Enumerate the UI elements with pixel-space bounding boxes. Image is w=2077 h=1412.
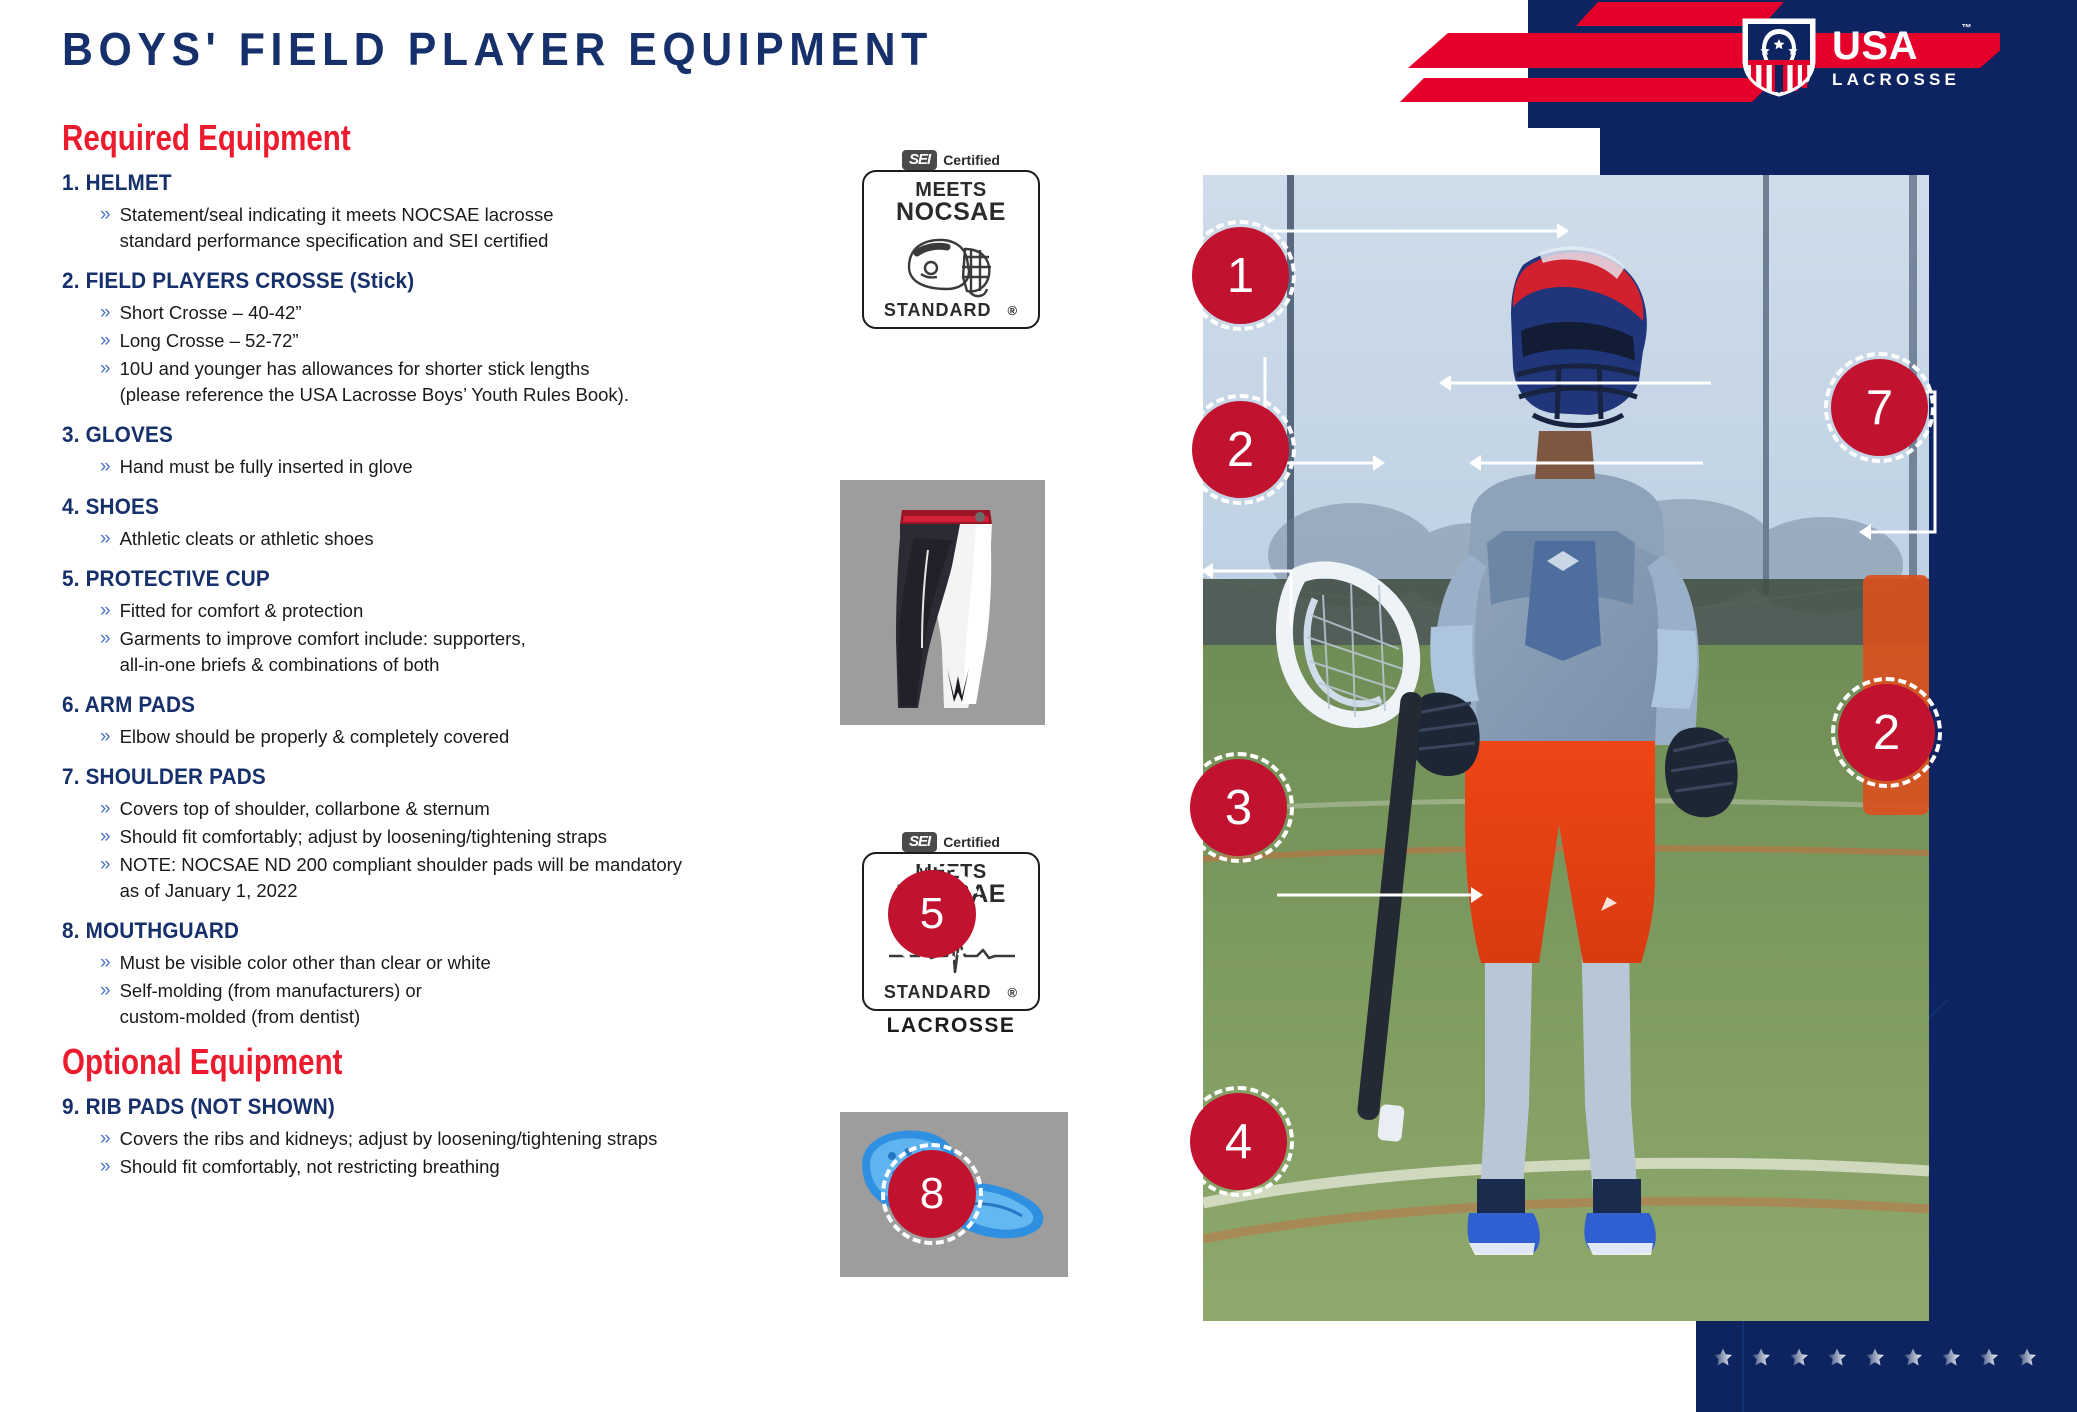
seal-standard-label: STANDARD <box>884 982 992 1003</box>
product-image-protective-cup <box>840 480 1045 725</box>
section-title: 5. PROTECTIVE CUP <box>62 566 798 592</box>
chevron-bullet-icon: » <box>62 598 111 624</box>
chevron-bullet-icon: » <box>62 626 111 652</box>
seal-standard-row: STANDARD ® <box>870 982 1032 1003</box>
callout-badge-8[interactable]: 8 <box>892 1154 972 1234</box>
bullet-text: Hand must be fully inserted in glove <box>120 454 413 480</box>
trademark-icon: ™ <box>1962 24 1973 34</box>
registered-mark-icon: ® <box>1008 303 1019 318</box>
bullet-list: »Short Crosse – 40-42” »Long Crosse – 52… <box>62 300 862 408</box>
chevron-bullet-icon: » <box>62 300 111 326</box>
callout-badge-2-arm[interactable]: 2 <box>1842 688 1931 777</box>
bullet-list: »Must be visible color other than clear … <box>62 950 862 1030</box>
chevron-bullet-icon: » <box>62 356 111 382</box>
chevron-bullet-icon: » <box>62 796 111 822</box>
registered-mark-icon: ® <box>1008 985 1019 1000</box>
list-item: »Garments to improve comfort include: su… <box>62 626 862 678</box>
section-shoulder-pads: 7. SHOULDER PADS »Covers top of shoulder… <box>62 764 862 904</box>
list-item: »Elbow should be properly & completely c… <box>62 724 862 750</box>
logo-lacrosse-text: LACROSSE <box>1832 71 1960 88</box>
chevron-bullet-icon: » <box>62 1154 111 1180</box>
callout-badge-7[interactable]: 7 <box>1835 363 1924 452</box>
list-item: »Long Crosse – 52-72” <box>62 328 862 354</box>
list-item: »Hand must be fully inserted in glove <box>62 454 862 480</box>
list-item: »NOTE: NOCSAE ND 200 compliant shoulder … <box>62 852 862 904</box>
section-title: 8. MOUTHGUARD <box>62 918 798 944</box>
nocsae-seal-helmet: SEI Certified MEETS NOCSAE STANDAR <box>862 148 1040 329</box>
equipment-content-column: Required Equipment 1. HELMET »Statement/… <box>62 120 862 1194</box>
bullet-list: »Elbow should be properly & completely c… <box>62 724 862 750</box>
section-title: 1. HELMET <box>62 170 798 196</box>
bullet-text: Covers top of shoulder, collarbone & ste… <box>120 796 490 822</box>
section-title: 9. RIB PADS (NOT SHOWN) <box>62 1094 798 1120</box>
section-gloves: 3. GLOVES »Hand must be fully inserted i… <box>62 422 862 480</box>
seal-box: MEETS NOCSAE STANDARD ® <box>862 170 1040 329</box>
bullet-list: »Fitted for comfort & protection »Garmen… <box>62 598 862 678</box>
list-item: »10U and younger has allowances for shor… <box>62 356 862 408</box>
sei-certified-row: SEI Certified <box>862 830 1040 854</box>
badge-number: 2 <box>1873 705 1900 761</box>
white-notch-lower <box>1528 1306 1696 1412</box>
chevron-bullet-icon: » <box>62 950 111 976</box>
bullet-text: 10U and younger has allowances for short… <box>120 356 629 408</box>
section-title: 7. SHOULDER PADS <box>62 764 798 790</box>
bullet-list: »Hand must be fully inserted in glove <box>62 454 862 480</box>
list-item: »Must be visible color other than clear … <box>62 950 862 976</box>
bullet-text: Should fit comfortably; adjust by loosen… <box>120 824 607 850</box>
sei-logo-icon: SEI <box>902 832 937 852</box>
required-equipment-heading: Required Equipment <box>62 120 718 156</box>
optional-equipment-heading: Optional Equipment <box>62 1044 718 1080</box>
callout-badge-4[interactable]: 4 <box>1194 1097 1283 1186</box>
seal-nocsae-label: NOCSAE <box>870 200 1032 226</box>
page-title: BOYS' FIELD PLAYER EQUIPMENT <box>62 22 933 76</box>
callout-badge-1[interactable]: 1 <box>1196 231 1285 320</box>
chevron-bullet-icon: » <box>62 824 111 850</box>
list-item: »Should fit comfortably, not restricting… <box>62 1154 862 1180</box>
badge-number: 5 <box>920 889 944 939</box>
sei-certified-label: Certified <box>943 834 1000 850</box>
bullet-list: »Statement/seal indicating it meets NOCS… <box>62 202 862 254</box>
list-item: »Self-molding (from manufacturers) or cu… <box>62 978 862 1030</box>
seal-lacrosse-label: LACROSSE <box>862 1014 1040 1038</box>
section-field-players-crosse: 2. FIELD PLAYERS CROSSE (Stick) »Short C… <box>62 268 862 408</box>
bullet-text: NOTE: NOCSAE ND 200 compliant shoulder p… <box>120 852 682 904</box>
bullet-text: Statement/seal indicating it meets NOCSA… <box>120 202 554 254</box>
helmet-icon <box>870 226 1032 300</box>
bullet-list: »Covers the ribs and kidneys; adjust by … <box>62 1126 862 1180</box>
list-item: »Covers top of shoulder, collarbone & st… <box>62 796 862 822</box>
badge-number: 2 <box>1227 422 1254 478</box>
list-item: »Short Crosse – 40-42” <box>62 300 862 326</box>
bullet-list: »Covers top of shoulder, collarbone & st… <box>62 796 862 904</box>
logo-usa-text: USA™ <box>1832 26 1960 66</box>
seal-standard-label: STANDARD <box>884 300 992 321</box>
callout-leader-lines-right <box>1495 300 2055 720</box>
callout-badge-3[interactable]: 3 <box>1194 763 1283 852</box>
badge-number: 3 <box>1225 780 1252 836</box>
list-item: »Statement/seal indicating it meets NOCS… <box>62 202 862 254</box>
list-item: »Fitted for comfort & protection <box>62 598 862 624</box>
section-title: 4. SHOES <box>62 494 798 520</box>
bullet-list: »Athletic cleats or athletic shoes <box>62 526 862 552</box>
list-item: »Athletic cleats or athletic shoes <box>62 526 862 552</box>
sei-certified-row: SEI Certified <box>862 148 1040 172</box>
bullet-text: Fitted for comfort & protection <box>120 598 364 624</box>
callout-badge-5[interactable]: 5 <box>892 874 972 954</box>
section-title: 2. FIELD PLAYERS CROSSE (Stick) <box>62 268 798 294</box>
chevron-bullet-icon: » <box>62 202 111 228</box>
chevron-bullet-icon: » <box>62 852 111 878</box>
section-arm-pads: 6. ARM PADS »Elbow should be properly & … <box>62 692 862 750</box>
chevron-bullet-icon: » <box>62 328 111 354</box>
badge-number: 4 <box>1225 1114 1252 1170</box>
bullet-text: Elbow should be properly & completely co… <box>120 724 510 750</box>
list-item: »Covers the ribs and kidneys; adjust by … <box>62 1126 862 1152</box>
sei-certified-label: Certified <box>943 152 1000 168</box>
bullet-text: Garments to improve comfort include: sup… <box>120 626 526 678</box>
bullet-text: Short Crosse – 40-42” <box>120 300 302 326</box>
bullet-text: Covers the ribs and kidneys; adjust by l… <box>120 1126 658 1152</box>
bullet-text: Long Crosse – 52-72” <box>120 328 299 354</box>
usa-lacrosse-shield-icon <box>1740 16 1818 98</box>
section-shoes: 4. SHOES »Athletic cleats or athletic sh… <box>62 494 862 552</box>
list-item: »Should fit comfortably; adjust by loose… <box>62 824 862 850</box>
chevron-bullet-icon: » <box>62 978 111 1004</box>
chevron-bullet-icon: » <box>62 1126 111 1152</box>
badge-number: 1 <box>1227 248 1254 304</box>
chevron-bullet-icon: » <box>62 724 111 750</box>
section-helmet: 1. HELMET »Statement/seal indicating it … <box>62 170 862 254</box>
seal-meets-label: MEETS <box>870 180 1032 200</box>
sei-logo-icon: SEI <box>902 150 937 170</box>
chevron-bullet-icon: » <box>62 526 111 552</box>
chevron-bullet-icon: » <box>62 454 111 480</box>
bullet-text: Must be visible color other than clear o… <box>120 950 491 976</box>
section-title: 6. ARM PADS <box>62 692 798 718</box>
section-mouthguard: 8. MOUTHGUARD »Must be visible color oth… <box>62 918 862 1030</box>
bullet-text: Self-molding (from manufacturers) or cus… <box>120 978 422 1030</box>
section-rib-pads: 9. RIB PADS (NOT SHOWN) »Covers the ribs… <box>62 1094 862 1180</box>
badge-number: 7 <box>1866 380 1893 436</box>
callout-badge-2-crosse[interactable]: 2 <box>1196 405 1285 494</box>
section-title: 3. GLOVES <box>62 422 798 448</box>
badge-number: 8 <box>920 1169 944 1219</box>
section-protective-cup: 5. PROTECTIVE CUP »Fitted for comfort & … <box>62 566 862 678</box>
bullet-text: Athletic cleats or athletic shoes <box>120 526 374 552</box>
seal-standard-row: STANDARD ® <box>870 300 1032 321</box>
usa-lacrosse-logo: USA™ LACROSSE <box>1740 16 2010 98</box>
bullet-text: Should fit comfortably, not restricting … <box>120 1154 500 1180</box>
